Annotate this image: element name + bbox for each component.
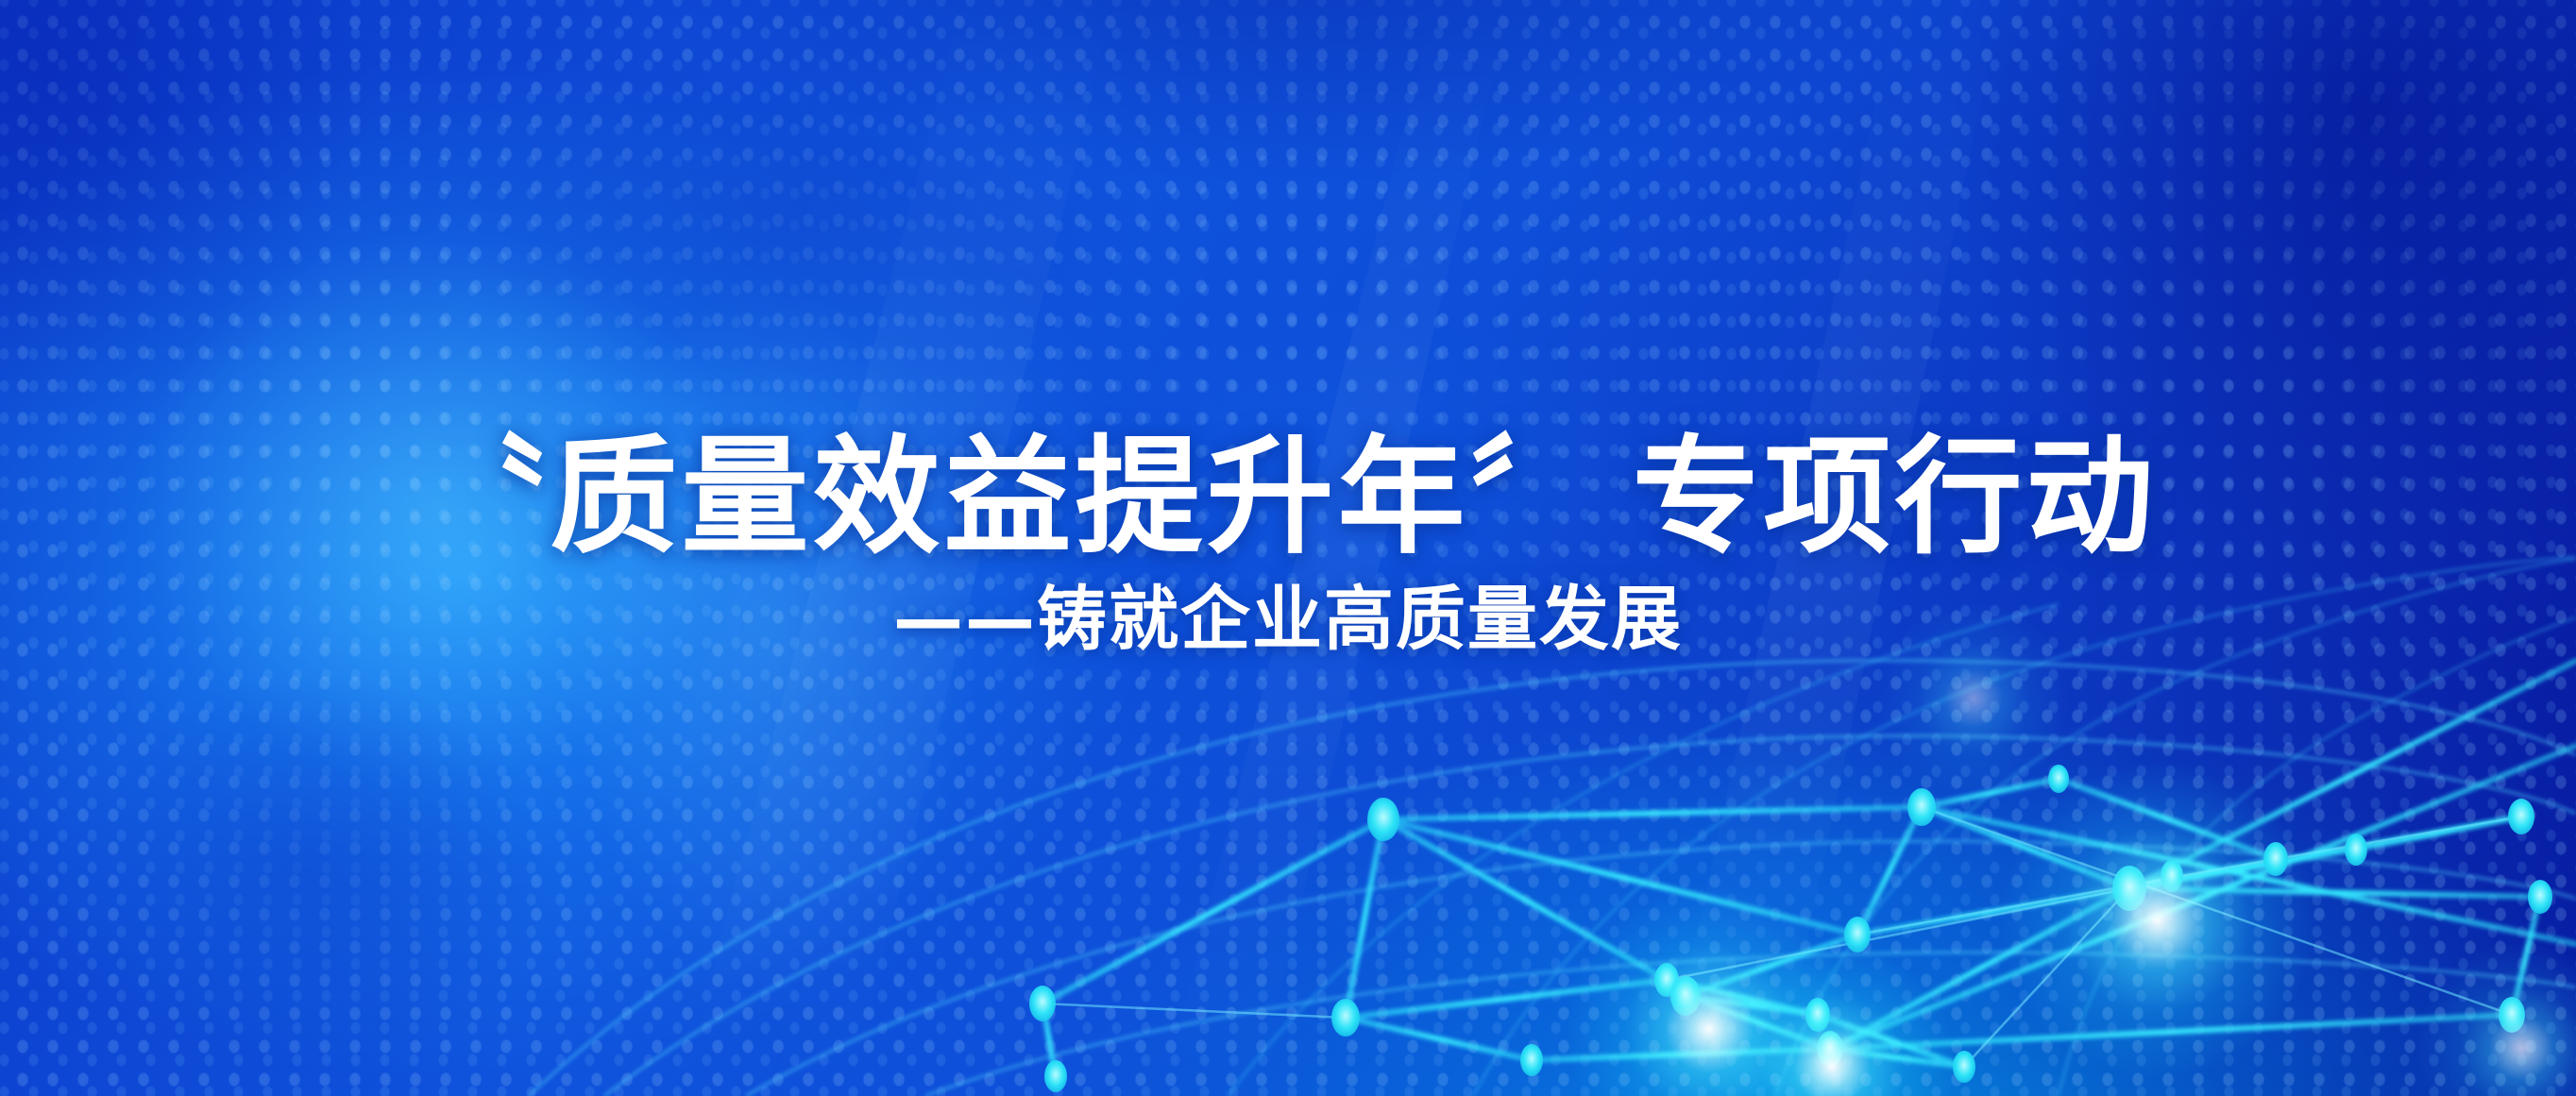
halftone-dot-layer-2 [0, 0, 2576, 1096]
promo-banner: 〝质量效益提升年〞专项行动 ——铸就企业高质量发展 [0, 0, 2576, 1096]
